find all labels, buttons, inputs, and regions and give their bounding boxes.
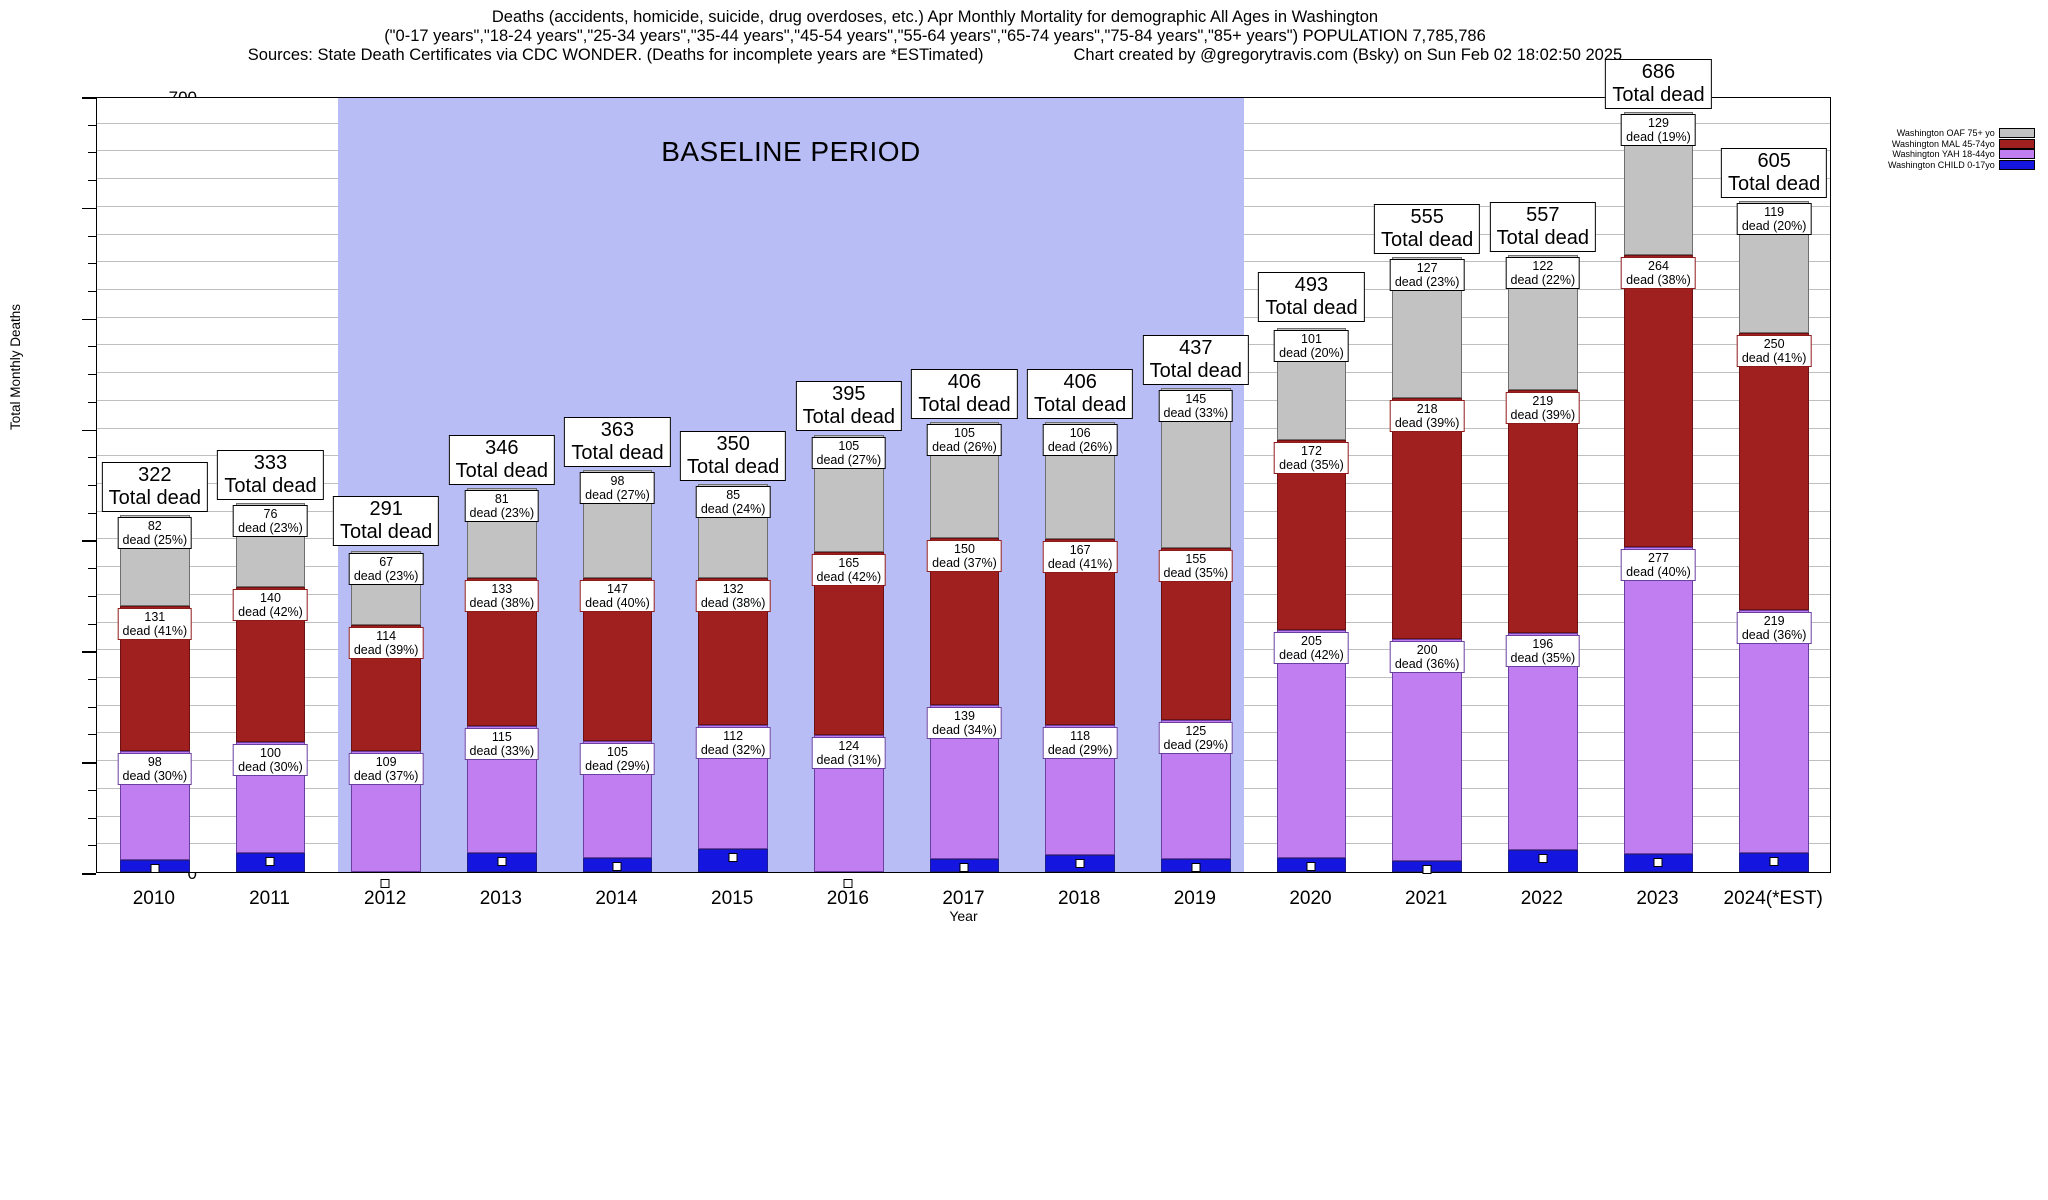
total-suffix: Total dead xyxy=(687,456,779,478)
segment-pct: dead (23%) xyxy=(354,569,419,583)
stacked-bar[interactable]: 98dead (30%)131dead (41%)82dead (25%)322… xyxy=(120,515,189,872)
segment-label-yah: 112dead (32%) xyxy=(696,727,771,759)
x-tick-label: 2023 xyxy=(1636,888,1678,910)
x-tick-label: 2011 xyxy=(249,888,290,910)
child-series-marker xyxy=(1538,854,1547,863)
segment-count: 167 xyxy=(1070,543,1091,557)
y-tick-minor xyxy=(88,568,96,569)
segment-pct: dead (35%) xyxy=(1164,566,1229,580)
segment-pct: dead (26%) xyxy=(932,440,997,454)
segment-pct: dead (29%) xyxy=(1048,743,1113,757)
legend-swatch-mal xyxy=(1999,139,2035,149)
segment-count: 147 xyxy=(607,582,628,596)
segment-pct: dead (25%) xyxy=(123,533,188,547)
segment-label-yah: 125dead (29%) xyxy=(1159,722,1234,754)
segment-label-oaf: 81dead (23%) xyxy=(465,490,540,522)
segment-label-oaf: 145dead (33%) xyxy=(1159,390,1234,422)
bar-total-label: 363Total dead xyxy=(564,417,670,467)
total-count: 437 xyxy=(1179,337,1212,359)
child-series-marker xyxy=(1423,865,1432,874)
y-tick-minor xyxy=(88,734,96,735)
child-series-marker xyxy=(613,862,622,871)
segment-pct: dead (31%) xyxy=(817,753,882,767)
bar-total-label: 557Total dead xyxy=(1490,202,1596,252)
total-suffix: Total dead xyxy=(1728,173,1820,195)
segment-count: 106 xyxy=(1070,426,1091,440)
total-suffix: Total dead xyxy=(1265,297,1357,319)
stacked-bar[interactable]: 219dead (36%)250dead (41%)119dead (20%)6… xyxy=(1739,201,1808,872)
segment-count: 122 xyxy=(1532,259,1553,273)
bar-segment-mal[interactable] xyxy=(1508,390,1577,633)
y-tick-minor xyxy=(88,818,96,819)
segment-pct: dead (30%) xyxy=(238,760,303,774)
stacked-bar[interactable]: 100dead (30%)140dead (42%)76dead (23%)33… xyxy=(236,503,305,872)
segment-pct: dead (42%) xyxy=(817,570,882,584)
bar-segment-mal[interactable] xyxy=(1739,333,1808,610)
x-tick-label: 2021 xyxy=(1405,888,1447,910)
segment-count: 105 xyxy=(954,426,975,440)
x-tick-label: 2012 xyxy=(364,888,406,910)
child-series-marker xyxy=(843,879,852,888)
segment-label-yah: 200dead (36%) xyxy=(1390,641,1465,673)
bar-total-label: 333Total dead xyxy=(217,450,323,500)
segment-label-mal: 167dead (41%) xyxy=(1043,541,1118,573)
total-count: 686 xyxy=(1642,61,1675,83)
bar-total-label: 686Total dead xyxy=(1605,59,1711,109)
segment-count: 131 xyxy=(144,610,165,624)
segment-label-mal: 132dead (38%) xyxy=(696,580,771,612)
segment-label-yah: 118dead (29%) xyxy=(1043,727,1118,759)
total-suffix: Total dead xyxy=(340,521,432,543)
segment-label-mal: 147dead (40%) xyxy=(580,580,655,612)
bar-segment-mal[interactable] xyxy=(1624,255,1693,548)
total-count: 291 xyxy=(369,498,402,520)
segment-count: 219 xyxy=(1764,614,1785,628)
stacked-bar[interactable]: 277dead (40%)264dead (38%)129dead (19%)6… xyxy=(1624,112,1693,872)
segment-label-yah: 139dead (34%) xyxy=(927,707,1002,739)
segment-label-oaf: 105dead (27%) xyxy=(812,437,887,469)
segment-count: 101 xyxy=(1301,332,1322,346)
segment-pct: dead (27%) xyxy=(817,453,882,467)
chart-sources: Sources: State Death Certificates via CD… xyxy=(248,46,984,65)
segment-pct: dead (40%) xyxy=(1626,565,1691,579)
segment-label-oaf: 127dead (23%) xyxy=(1390,259,1465,291)
segment-count: 172 xyxy=(1301,444,1322,458)
segment-label-oaf: 101dead (20%) xyxy=(1274,330,1349,362)
legend-item-label: Washington YAH 18-44yo xyxy=(1892,149,1994,160)
segment-count: 112 xyxy=(723,729,743,743)
total-count: 406 xyxy=(1063,371,1096,393)
segment-label-mal: 150dead (37%) xyxy=(927,540,1002,572)
total-suffix: Total dead xyxy=(803,406,895,428)
segment-pct: dead (38%) xyxy=(1626,273,1691,287)
y-tick-minor xyxy=(88,457,96,458)
bar-segment-yah[interactable] xyxy=(1624,547,1693,854)
segment-pct: dead (42%) xyxy=(238,605,303,619)
segment-label-yah: 196dead (35%) xyxy=(1506,635,1581,667)
segment-count: 133 xyxy=(491,582,512,596)
segment-label-oaf: 129dead (19%) xyxy=(1621,114,1696,146)
chart-page: Deaths (accidents, homicide, suicide, dr… xyxy=(0,0,2048,1200)
segment-pct: dead (19%) xyxy=(1626,130,1691,144)
child-series-marker xyxy=(1191,863,1200,872)
segment-label-oaf: 85dead (24%) xyxy=(696,486,771,518)
legend-item-label: Washington MAL 45-74yo xyxy=(1892,139,1995,150)
segment-pct: dead (24%) xyxy=(701,502,766,516)
segment-pct: dead (41%) xyxy=(1048,557,1113,571)
segment-pct: dead (36%) xyxy=(1395,657,1460,671)
segment-count: 67 xyxy=(379,555,393,569)
y-tick-minor xyxy=(88,513,96,514)
segment-count: 109 xyxy=(376,755,397,769)
segment-pct: dead (27%) xyxy=(585,488,650,502)
segment-count: 76 xyxy=(264,507,278,521)
segment-pct: dead (41%) xyxy=(123,624,188,638)
total-count: 333 xyxy=(254,452,287,474)
segment-count: 98 xyxy=(611,474,625,488)
total-suffix: Total dead xyxy=(1034,394,1126,416)
bar-total-label: 605Total dead xyxy=(1721,148,1827,198)
bar-total-label: 350Total dead xyxy=(680,431,786,481)
chart-legend: Washington OAF 75+ yoWashington MAL 45-7… xyxy=(1888,128,2035,170)
segment-label-mal: 114dead (39%) xyxy=(349,627,424,659)
segment-count: 125 xyxy=(1185,724,1206,738)
x-tick-label: 2020 xyxy=(1289,888,1331,910)
segment-count: 118 xyxy=(1070,729,1090,743)
total-suffix: Total dead xyxy=(1150,360,1242,382)
segment-pct: dead (34%) xyxy=(932,723,997,737)
y-tick-minor xyxy=(88,236,96,237)
y-tick-minor xyxy=(88,263,96,264)
x-axis-label: Year xyxy=(96,908,1831,924)
x-tick-label: 2016 xyxy=(827,888,869,910)
segment-label-yah: 105dead (29%) xyxy=(580,743,655,775)
segment-pct: dead (35%) xyxy=(1279,458,1344,472)
legend-swatch-oaf xyxy=(1999,128,2035,138)
total-count: 395 xyxy=(832,383,865,405)
y-tick-minor xyxy=(88,346,96,347)
segment-count: 165 xyxy=(838,556,859,570)
segment-label-yah: 98dead (30%) xyxy=(118,753,193,785)
segment-label-oaf: 105dead (26%) xyxy=(927,424,1002,456)
total-count: 350 xyxy=(716,433,749,455)
segment-label-mal: 219dead (39%) xyxy=(1506,392,1581,424)
stacked-bar[interactable]: 205dead (42%)172dead (35%)101dead (20%)4… xyxy=(1277,325,1346,872)
total-count: 493 xyxy=(1295,274,1328,296)
bar-total-label: 291Total dead xyxy=(333,496,439,546)
stacked-bar[interactable]: 125dead (29%)155dead (35%)145dead (33%)4… xyxy=(1161,388,1230,872)
child-series-marker xyxy=(1770,857,1779,866)
segment-count: 200 xyxy=(1417,643,1438,657)
total-count: 557 xyxy=(1526,204,1559,226)
segment-count: 250 xyxy=(1764,337,1785,351)
segment-pct: dead (42%) xyxy=(1279,648,1344,662)
segment-pct: dead (26%) xyxy=(1048,440,1113,454)
chart-credit: Chart created by @gregorytravis.com (Bsk… xyxy=(1074,46,1623,65)
segment-count: 205 xyxy=(1301,634,1322,648)
segment-count: 218 xyxy=(1417,402,1438,416)
child-series-marker xyxy=(381,879,390,888)
child-series-marker xyxy=(1076,859,1085,868)
segment-label-oaf: 122dead (22%) xyxy=(1506,257,1581,289)
stacked-bar[interactable]: 200dead (36%)218dead (39%)127dead (23%)5… xyxy=(1392,257,1461,872)
y-tick-minor xyxy=(88,125,96,126)
legend-item[interactable]: Washington CHILD 0-17yo xyxy=(1888,160,2035,171)
segment-pct: dead (30%) xyxy=(123,769,188,783)
segment-label-oaf: 98dead (27%) xyxy=(580,472,655,504)
bar-segment-yah[interactable] xyxy=(1739,610,1808,853)
child-series-marker xyxy=(150,864,159,873)
segment-count: 129 xyxy=(1648,116,1669,130)
stacked-bar[interactable]: 112dead (32%)132dead (38%)85dead (24%)35… xyxy=(698,484,767,872)
y-tick-minor xyxy=(88,291,96,292)
segment-pct: dead (22%) xyxy=(1511,273,1576,287)
stacked-bar[interactable]: 124dead (31%)165dead (42%)105dead (27%)3… xyxy=(814,434,883,872)
segment-label-yah: 277dead (40%) xyxy=(1621,549,1696,581)
y-tick-minor xyxy=(88,485,96,486)
segment-count: 124 xyxy=(838,739,859,753)
segment-pct: dead (33%) xyxy=(1164,406,1229,420)
y-tick-minor xyxy=(88,679,96,680)
baseline-period-label: BASELINE PERIOD xyxy=(338,136,1245,168)
segment-label-mal: 218dead (39%) xyxy=(1390,400,1465,432)
stacked-bar[interactable]: 196dead (35%)219dead (39%)122dead (22%)5… xyxy=(1508,255,1577,872)
legend-swatch-child xyxy=(1999,160,2035,170)
segment-count: 105 xyxy=(607,745,628,759)
chart-subtitle-row: Sources: State Death Certificates via CD… xyxy=(0,46,1870,65)
segment-pct: dead (37%) xyxy=(354,769,419,783)
x-tick-label: 2017 xyxy=(942,888,984,910)
segment-count: 150 xyxy=(954,542,975,556)
total-count: 363 xyxy=(601,419,634,441)
segment-label-mal: 172dead (35%) xyxy=(1274,442,1349,474)
child-series-marker xyxy=(960,863,969,872)
legend-item-label: Washington OAF 75+ yo xyxy=(1897,128,1995,139)
total-count: 605 xyxy=(1757,150,1790,172)
child-series-marker xyxy=(729,853,738,862)
total-count: 322 xyxy=(138,464,171,486)
x-tick-label: 2018 xyxy=(1058,888,1100,910)
segment-pct: dead (36%) xyxy=(1742,628,1807,642)
segment-pct: dead (39%) xyxy=(1395,416,1460,430)
segment-pct: dead (37%) xyxy=(932,556,997,570)
total-suffix: Total dead xyxy=(109,487,201,509)
total-suffix: Total dead xyxy=(1497,227,1589,249)
segment-pct: dead (20%) xyxy=(1279,346,1344,360)
segment-count: 132 xyxy=(723,582,744,596)
x-tick-label: 2014 xyxy=(595,888,637,910)
segment-pct: dead (39%) xyxy=(354,643,419,657)
bar-total-label: 406Total dead xyxy=(911,369,1017,419)
segment-count: 100 xyxy=(260,746,281,760)
x-tick-label: 2022 xyxy=(1521,888,1563,910)
y-tick-minor xyxy=(88,624,96,625)
segment-label-yah: 100dead (30%) xyxy=(233,744,308,776)
y-tick-minor xyxy=(88,152,96,153)
y-tick-minor xyxy=(88,402,96,403)
legend-item[interactable]: Washington MAL 45-74yo xyxy=(1888,139,2035,150)
segment-label-mal: 250dead (41%) xyxy=(1737,335,1812,367)
segment-pct: dead (29%) xyxy=(1164,738,1229,752)
segment-pct: dead (38%) xyxy=(701,596,766,610)
segment-label-yah: 219dead (36%) xyxy=(1737,612,1812,644)
child-series-marker xyxy=(497,857,506,866)
total-suffix: Total dead xyxy=(918,394,1010,416)
bar-total-label: 395Total dead xyxy=(796,381,902,431)
bar-total-label: 406Total dead xyxy=(1027,369,1133,419)
segment-label-mal: 133dead (38%) xyxy=(465,580,540,612)
legend-item[interactable]: Washington OAF 75+ yo xyxy=(1888,128,2035,139)
segment-pct: dead (38%) xyxy=(470,596,535,610)
total-count: 406 xyxy=(948,371,981,393)
total-count: 555 xyxy=(1410,206,1443,228)
segment-count: 264 xyxy=(1648,259,1669,273)
y-tick-minor xyxy=(88,790,96,791)
total-count: 346 xyxy=(485,437,518,459)
total-suffix: Total dead xyxy=(456,460,548,482)
segment-count: 119 xyxy=(1764,205,1784,219)
segment-count: 85 xyxy=(726,488,740,502)
bar-total-label: 493Total dead xyxy=(1258,272,1364,322)
child-series-marker xyxy=(1307,862,1316,871)
total-suffix: Total dead xyxy=(1381,229,1473,251)
stacked-bar[interactable]: 139dead (34%)150dead (37%)105dead (26%)4… xyxy=(930,422,999,872)
chart-title-line-2: ("0-17 years","18-24 years","25-34 years… xyxy=(0,27,1870,46)
segment-label-yah: 205dead (42%) xyxy=(1274,632,1349,664)
segment-count: 98 xyxy=(148,755,162,769)
segment-pct: dead (23%) xyxy=(238,521,303,535)
segment-label-mal: 131dead (41%) xyxy=(118,608,193,640)
chart-title-line-1: Deaths (accidents, homicide, suicide, dr… xyxy=(0,8,1870,27)
bar-total-label: 555Total dead xyxy=(1374,204,1480,254)
bar-segment-yah[interactable] xyxy=(1277,630,1346,857)
bar-total-label: 437Total dead xyxy=(1143,335,1249,385)
y-tick-minor xyxy=(88,845,96,846)
x-tick-label: 2015 xyxy=(711,888,753,910)
x-tick-label: 2010 xyxy=(133,888,175,910)
stacked-bar[interactable]: 105dead (29%)147dead (40%)98dead (27%)36… xyxy=(583,470,652,872)
total-suffix: Total dead xyxy=(571,442,663,464)
segment-pct: dead (41%) xyxy=(1742,351,1807,365)
total-suffix: Total dead xyxy=(224,475,316,497)
segment-count: 81 xyxy=(495,492,509,506)
segment-count: 114 xyxy=(376,629,396,643)
x-tick-label: 2024(*EST) xyxy=(1724,888,1823,910)
bar-segment-mal[interactable] xyxy=(1392,398,1461,640)
y-tick-minor xyxy=(88,707,96,708)
y-tick-minor xyxy=(88,596,96,597)
x-tick-label: 2013 xyxy=(480,888,522,910)
x-tick-label: 2019 xyxy=(1174,888,1216,910)
segment-count: 196 xyxy=(1532,637,1553,651)
plot-area: BASELINE PERIOD 98dead (30%)131dead (41%… xyxy=(96,97,1831,873)
segment-label-oaf: 119dead (20%) xyxy=(1737,203,1812,235)
segment-label-yah: 109dead (37%) xyxy=(349,753,424,785)
child-series-marker xyxy=(266,857,275,866)
segment-label-oaf: 106dead (26%) xyxy=(1043,424,1118,456)
legend-swatch-yah xyxy=(1999,149,2035,159)
segment-count: 115 xyxy=(492,730,512,744)
segment-pct: dead (35%) xyxy=(1511,651,1576,665)
segment-count: 82 xyxy=(148,519,162,533)
segment-count: 155 xyxy=(1185,552,1206,566)
y-tick-minor xyxy=(88,374,96,375)
segment-count: 277 xyxy=(1648,551,1669,565)
chart-title-block: Deaths (accidents, homicide, suicide, dr… xyxy=(0,8,1870,65)
segment-pct: dead (40%) xyxy=(585,596,650,610)
segment-label-mal: 264dead (38%) xyxy=(1621,257,1696,289)
segment-count: 139 xyxy=(954,709,975,723)
segment-pct: dead (23%) xyxy=(470,506,535,520)
segment-label-mal: 155dead (35%) xyxy=(1159,550,1234,582)
segment-label-mal: 165dead (42%) xyxy=(812,554,887,586)
segment-pct: dead (32%) xyxy=(701,743,766,757)
y-tick-minor xyxy=(88,180,96,181)
segment-count: 140 xyxy=(260,591,281,605)
segment-label-oaf: 76dead (23%) xyxy=(233,505,308,537)
segment-count: 105 xyxy=(838,439,859,453)
bar-total-label: 322Total dead xyxy=(102,462,208,512)
segment-label-mal: 140dead (42%) xyxy=(233,589,308,621)
segment-count: 145 xyxy=(1185,392,1206,406)
bar-total-label: 346Total dead xyxy=(449,435,555,485)
stacked-bar[interactable]: 115dead (33%)133dead (38%)81dead (23%)34… xyxy=(467,488,536,872)
segment-label-yah: 115dead (33%) xyxy=(465,728,540,760)
segment-label-oaf: 67dead (23%) xyxy=(349,553,424,585)
total-suffix: Total dead xyxy=(1612,84,1704,106)
segment-label-oaf: 82dead (25%) xyxy=(118,517,193,549)
legend-item[interactable]: Washington YAH 18-44yo xyxy=(1888,149,2035,160)
child-series-marker xyxy=(1654,858,1663,867)
segment-pct: dead (23%) xyxy=(1395,275,1460,289)
segment-pct: dead (33%) xyxy=(470,744,535,758)
segment-count: 127 xyxy=(1417,261,1438,275)
segment-label-yah: 124dead (31%) xyxy=(812,737,887,769)
segment-count: 219 xyxy=(1532,394,1553,408)
segment-pct: dead (29%) xyxy=(585,759,650,773)
segment-pct: dead (20%) xyxy=(1742,219,1807,233)
segment-pct: dead (39%) xyxy=(1511,408,1576,422)
legend-item-label: Washington CHILD 0-17yo xyxy=(1888,160,1995,171)
stacked-bar[interactable]: 118dead (29%)167dead (41%)106dead (26%)4… xyxy=(1045,422,1114,872)
stacked-bar[interactable]: 109dead (37%)114dead (39%)67dead (23%)29… xyxy=(351,549,420,872)
